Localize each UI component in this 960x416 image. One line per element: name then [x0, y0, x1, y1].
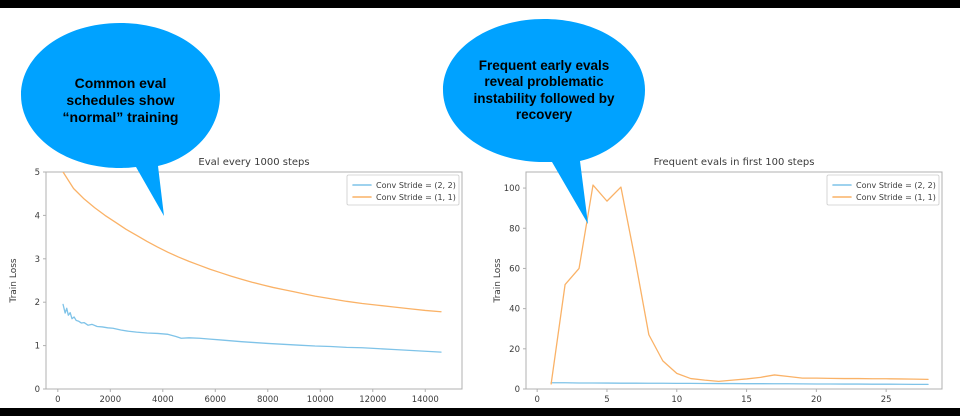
y-tick-label: 60 [509, 264, 520, 274]
x-tick-label: 6000 [204, 395, 226, 405]
callout-bubble-left: Common eval schedules show “normal” trai… [18, 20, 223, 220]
y-tick-label: 0 [35, 385, 40, 395]
callout-bubble-right: Frequent early evals reveal problematic … [440, 16, 648, 226]
x-tick-label: 5 [604, 395, 609, 405]
y-tick-label: 0 [515, 385, 520, 395]
y-axis-title: Train Loss [9, 258, 19, 304]
x-tick-label: 10000 [307, 395, 334, 405]
x-tick-label: 15 [741, 395, 752, 405]
legend-label-0: Conv Stride = (2, 2) [856, 181, 936, 190]
chart-title: Frequent evals in first 100 steps [654, 157, 815, 168]
y-tick-label: 3 [35, 255, 40, 265]
legend-label-1: Conv Stride = (1, 1) [856, 193, 936, 202]
series-line-0 [551, 383, 928, 385]
y-tick-label: 1 [35, 342, 40, 352]
x-tick-label: 4000 [152, 395, 174, 405]
slide-canvas: Eval every 1000 steps0200040006000800010… [0, 8, 960, 408]
y-tick-label: 40 [509, 305, 520, 315]
chart-legend: Conv Stride = (2, 2)Conv Stride = (1, 1) [827, 175, 939, 205]
callout-bubble-right-text: Frequent early evals reveal problematic … [440, 58, 648, 124]
x-tick-label: 12000 [359, 395, 386, 405]
y-tick-label: 20 [509, 345, 520, 355]
x-tick-label: 8000 [257, 395, 279, 405]
y-tick-label: 2 [35, 298, 40, 308]
series-line-0 [63, 304, 441, 352]
x-tick-label: 0 [55, 395, 60, 405]
x-tick-label: 25 [881, 395, 892, 405]
x-tick-label: 0 [534, 395, 539, 405]
x-tick-label: 14000 [412, 395, 439, 405]
x-tick-label: 20 [811, 395, 822, 405]
callout-bubble-left-text: Common eval schedules show “normal” trai… [18, 75, 223, 126]
x-tick-label: 2000 [99, 395, 121, 405]
y-axis-title: Train Loss [493, 258, 503, 304]
x-tick-label: 10 [671, 395, 682, 405]
